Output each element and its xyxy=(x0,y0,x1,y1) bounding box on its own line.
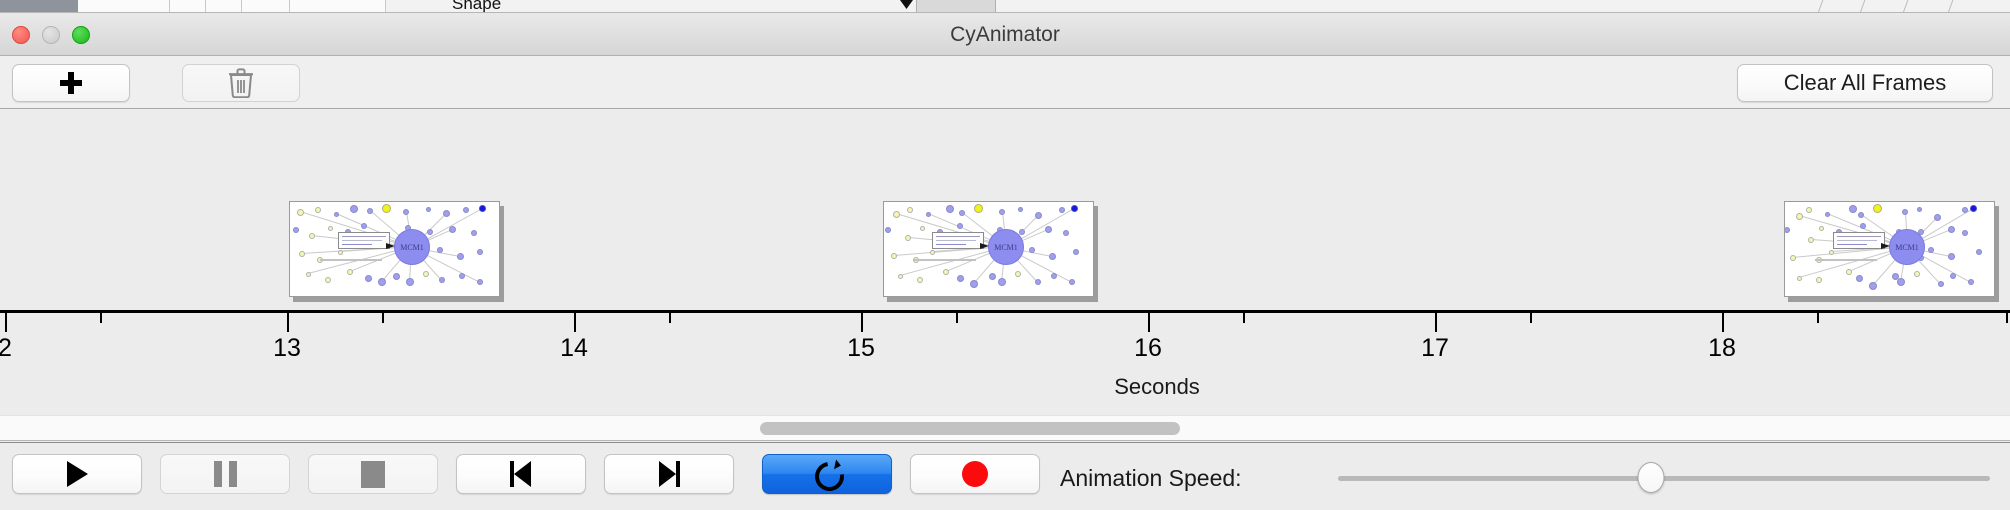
axis-tick xyxy=(669,313,671,323)
network-node xyxy=(477,249,483,255)
network-node xyxy=(917,277,923,283)
network-node xyxy=(1808,237,1814,243)
network-node xyxy=(926,212,931,217)
network-node xyxy=(1816,277,1822,283)
network-node xyxy=(959,210,965,216)
network-node xyxy=(905,235,911,241)
annotation-callout xyxy=(932,232,984,249)
network-node xyxy=(1797,276,1802,281)
network-hub-node: MCM1 xyxy=(394,229,430,265)
stop-button[interactable] xyxy=(308,454,438,494)
window-title: CyAnimator xyxy=(0,23,2010,47)
background-window-strip: Shape xyxy=(0,0,2010,13)
network-hub-node: MCM1 xyxy=(988,229,1024,265)
network-node xyxy=(1029,247,1035,253)
network-node xyxy=(437,247,443,253)
network-node xyxy=(1790,255,1796,261)
network-thumbnail-image: MCM1 xyxy=(1785,202,1994,296)
network-node xyxy=(334,212,339,217)
network-node xyxy=(957,223,963,229)
network-node xyxy=(1796,213,1803,220)
animation-speed-slider[interactable] xyxy=(1338,474,1990,482)
network-node xyxy=(1962,230,1968,236)
timeline-horizontal-scrollbar[interactable] xyxy=(0,415,2010,441)
record-button[interactable] xyxy=(910,454,1040,494)
network-node xyxy=(1934,214,1941,221)
network-node xyxy=(393,273,400,280)
network-node xyxy=(423,271,429,277)
toolbar: Clear All Frames xyxy=(0,56,2010,109)
network-node xyxy=(943,269,949,275)
background-divider xyxy=(1860,0,1866,13)
axis-tick-label: 17 xyxy=(1421,334,1449,363)
network-thumbnail-image: MCM1 xyxy=(884,202,1093,296)
network-node xyxy=(1073,249,1079,255)
background-cell xyxy=(78,0,170,13)
network-node xyxy=(1829,250,1834,255)
network-node xyxy=(1914,271,1920,277)
axis-tick xyxy=(574,313,576,332)
network-node xyxy=(459,273,465,279)
network-node xyxy=(1902,209,1908,215)
axis-tick-label: 2 xyxy=(0,334,12,363)
network-node xyxy=(1950,273,1956,279)
axis-tick-label: 15 xyxy=(847,334,875,363)
network-node xyxy=(891,253,897,259)
playback-bar: Animation Speed: xyxy=(0,442,2010,510)
network-node xyxy=(1019,229,1025,235)
network-node xyxy=(893,211,900,218)
background-tab xyxy=(916,0,996,13)
network-node xyxy=(449,226,456,233)
pause-icon xyxy=(214,461,237,487)
axis-tick xyxy=(861,313,863,332)
network-node xyxy=(898,274,903,279)
network-node xyxy=(999,209,1005,215)
background-cell xyxy=(290,0,386,13)
network-node xyxy=(299,251,305,257)
clear-all-frames-button[interactable]: Clear All Frames xyxy=(1737,64,1993,102)
network-node xyxy=(1035,212,1042,219)
axis-tick xyxy=(956,313,958,323)
network-node xyxy=(1897,278,1905,286)
network-node xyxy=(974,204,983,213)
network-node xyxy=(1860,223,1866,229)
network-node xyxy=(1970,205,1977,212)
network-node xyxy=(463,207,469,213)
network-node xyxy=(443,210,450,217)
background-divider xyxy=(1818,0,1824,13)
annotation-callout xyxy=(1833,232,1885,249)
frame-thumbnail-2[interactable]: MCM1 xyxy=(883,201,1094,297)
background-window-label: Shape xyxy=(452,0,501,13)
frame-thumbnail-1[interactable]: MCM1 xyxy=(289,201,500,297)
network-node xyxy=(1928,247,1934,253)
network-node xyxy=(382,204,391,213)
network-node xyxy=(297,209,304,216)
network-node xyxy=(347,269,353,275)
network-node xyxy=(907,207,913,213)
trash-icon xyxy=(228,68,254,98)
network-node xyxy=(426,207,431,212)
record-icon xyxy=(962,461,988,487)
network-node xyxy=(1873,204,1882,213)
network-node xyxy=(970,280,978,288)
pause-button[interactable] xyxy=(160,454,290,494)
network-node xyxy=(350,205,358,213)
axis-tick-label: 13 xyxy=(273,334,301,363)
network-node xyxy=(479,205,486,212)
network-node xyxy=(1045,226,1052,233)
delete-frame-button[interactable] xyxy=(182,64,300,102)
network-node xyxy=(1035,279,1041,285)
network-node xyxy=(1051,273,1057,279)
skip-previous-icon xyxy=(508,461,534,487)
network-node xyxy=(325,277,331,283)
network-node xyxy=(1015,271,1021,277)
annotation-callout xyxy=(338,232,390,249)
network-hub-node: MCM1 xyxy=(1889,229,1925,265)
annotation-caption xyxy=(320,259,382,261)
add-frame-button[interactable] xyxy=(12,64,130,102)
axis-tick-label: 18 xyxy=(1708,334,1736,363)
network-node xyxy=(1858,212,1864,218)
network-thumbnail-image: MCM1 xyxy=(290,202,499,296)
network-node xyxy=(427,229,433,235)
background-divider xyxy=(1948,0,1954,13)
network-node xyxy=(1846,269,1852,275)
scrollbar-thumb[interactable] xyxy=(760,422,1180,435)
axis-tick xyxy=(1148,313,1150,332)
axis-tick-label: 16 xyxy=(1134,334,1162,363)
network-node xyxy=(457,253,464,260)
play-button[interactable] xyxy=(12,454,142,494)
network-node xyxy=(365,275,372,282)
annotation-caption xyxy=(1815,259,1877,261)
background-marker-icon xyxy=(900,0,913,9)
loop-icon xyxy=(812,459,842,489)
network-node xyxy=(1869,282,1877,290)
network-node xyxy=(439,277,445,283)
network-node xyxy=(1071,205,1078,212)
network-node xyxy=(1806,207,1812,213)
network-node xyxy=(1063,230,1069,236)
network-node xyxy=(1948,253,1955,260)
network-node xyxy=(306,272,311,277)
network-node xyxy=(403,209,409,215)
network-node xyxy=(1948,226,1955,233)
network-node xyxy=(1059,207,1065,213)
network-node xyxy=(378,278,386,286)
network-node xyxy=(885,227,891,233)
stop-icon xyxy=(361,461,385,488)
frame-thumbnail-3[interactable]: MCM1 xyxy=(1784,201,1995,297)
axis-tick xyxy=(1817,313,1819,323)
network-node xyxy=(315,207,321,213)
network-node xyxy=(1825,212,1830,217)
network-node xyxy=(471,230,477,236)
axis-title-label: Seconds xyxy=(1114,374,1200,399)
annotation-pointer-icon xyxy=(980,243,989,249)
background-cell xyxy=(242,0,290,13)
network-node xyxy=(1962,207,1968,213)
network-node xyxy=(328,226,333,231)
network-node xyxy=(1069,279,1075,285)
axis-tick xyxy=(1435,313,1437,332)
network-node xyxy=(406,278,414,286)
annotation-caption xyxy=(914,259,976,261)
network-node xyxy=(367,208,373,214)
background-divider xyxy=(1903,0,1909,13)
network-node xyxy=(920,226,925,231)
skip-next-icon xyxy=(656,461,682,487)
network-node xyxy=(1049,253,1056,260)
skip-next-button[interactable] xyxy=(604,454,734,494)
network-node xyxy=(309,233,315,239)
network-node xyxy=(998,278,1006,286)
slider-thumb[interactable] xyxy=(1637,462,1664,493)
axis-tick-label: 14 xyxy=(560,334,588,363)
background-cell xyxy=(170,0,206,13)
annotation-pointer-icon xyxy=(1881,243,1890,249)
background-window-sidebar xyxy=(0,0,78,13)
axis-tick xyxy=(287,313,289,332)
network-node xyxy=(930,250,935,255)
network-node xyxy=(1018,207,1023,212)
timeline-axis-line xyxy=(0,310,2010,313)
title-bar[interactable]: CyAnimator xyxy=(0,13,2010,56)
axis-tick xyxy=(1243,313,1245,323)
network-node xyxy=(1976,249,1982,255)
axis-title: Seconds xyxy=(0,374,2010,400)
axis-tick xyxy=(1530,313,1532,323)
axis-tick xyxy=(100,313,102,323)
skip-previous-button[interactable] xyxy=(456,454,586,494)
annotation-pointer-icon xyxy=(386,243,395,249)
network-node xyxy=(1856,275,1863,282)
network-node xyxy=(989,273,996,280)
network-node xyxy=(1849,205,1857,213)
play-icon xyxy=(67,461,88,487)
network-node xyxy=(361,223,367,229)
axis-tick xyxy=(2006,313,2008,323)
network-node xyxy=(477,279,483,285)
network-node xyxy=(338,250,343,255)
axis-tick xyxy=(5,313,7,332)
network-node xyxy=(1784,227,1790,233)
network-node xyxy=(1917,207,1922,212)
timeline-canvas[interactable]: 2131415161718 MCM1MCM1MCM1 Seconds xyxy=(0,109,2010,415)
loop-button[interactable] xyxy=(762,454,892,494)
network-node xyxy=(1968,279,1974,285)
axis-tick xyxy=(1722,313,1724,332)
network-node xyxy=(1819,226,1824,231)
background-cell xyxy=(206,0,242,13)
network-node xyxy=(1938,281,1944,287)
network-node xyxy=(957,275,964,282)
network-node xyxy=(293,227,299,233)
animation-speed-label: Animation Speed: xyxy=(1060,465,1242,492)
network-node xyxy=(946,205,954,213)
plus-icon xyxy=(59,71,83,95)
axis-tick xyxy=(382,313,384,323)
